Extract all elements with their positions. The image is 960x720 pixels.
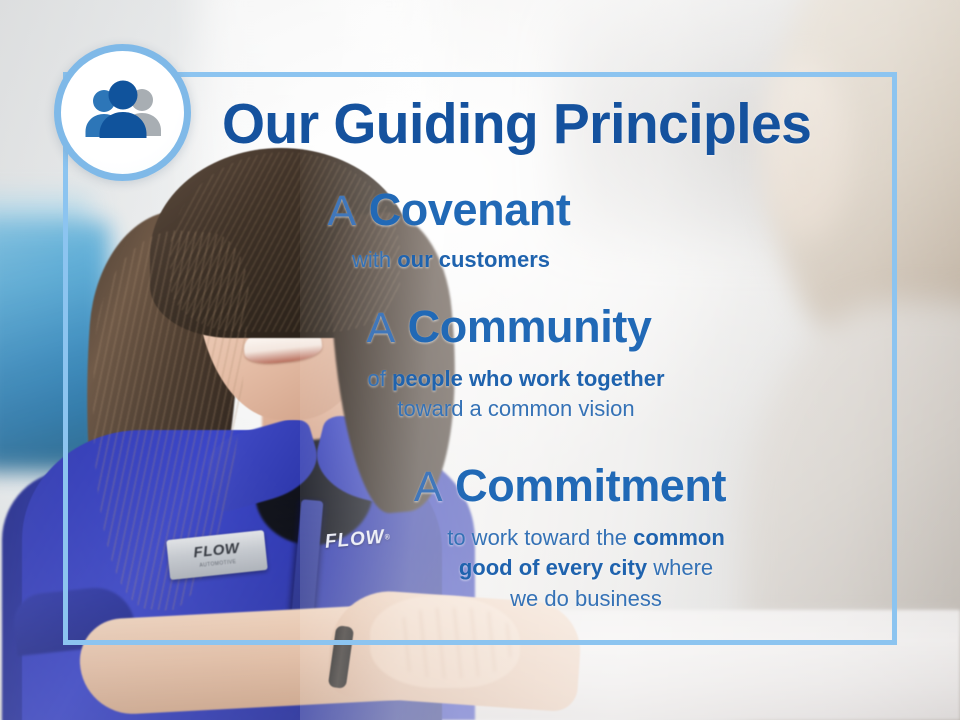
principle-subtext: of people who work togethertoward a comm… [0,364,960,426]
principle-article: A [366,304,395,352]
subtext-emphasis: our customers [397,247,550,272]
people-group-icon-badge [54,44,191,181]
subtext-plain: where [647,555,713,580]
principle-block-community: A Community of people who work togethert… [0,303,960,425]
subtext-plain: we do business [510,586,662,611]
principle-heading: A Community [0,303,960,352]
principle-keyword: Commitment [455,460,726,511]
principle-article: A [327,187,356,235]
subtext-emphasis: common [633,525,725,550]
subtext-plain: of [367,366,391,391]
subtext-plain: with [352,247,397,272]
subtext-plain: to work toward the [447,525,633,550]
principle-heading: A Commitment [0,462,960,511]
page-title: Our Guiding Principles [222,96,862,153]
principle-article: A [414,463,443,511]
principle-block-commitment: A Commitment to work toward the commongo… [0,462,960,615]
principle-subtext: with our customers [0,245,960,276]
subtext-emphasis: good of every city [459,555,647,580]
people-group-icon [80,80,166,146]
photo-subject-fingers [392,608,512,678]
subtext-emphasis: people who work together [392,366,665,391]
principle-block-covenant: A Covenant with our customers [0,186,960,275]
principle-keyword: Community [408,301,652,352]
principle-keyword: Covenant [369,184,571,235]
banner-graphic: FLOW AUTOMOTIVE FLOW® Our Guidin [0,0,960,720]
subtext-plain: toward a common vision [397,396,634,421]
principle-subtext: to work toward the commongood of every c… [0,523,960,615]
principle-heading: A Covenant [0,186,960,235]
